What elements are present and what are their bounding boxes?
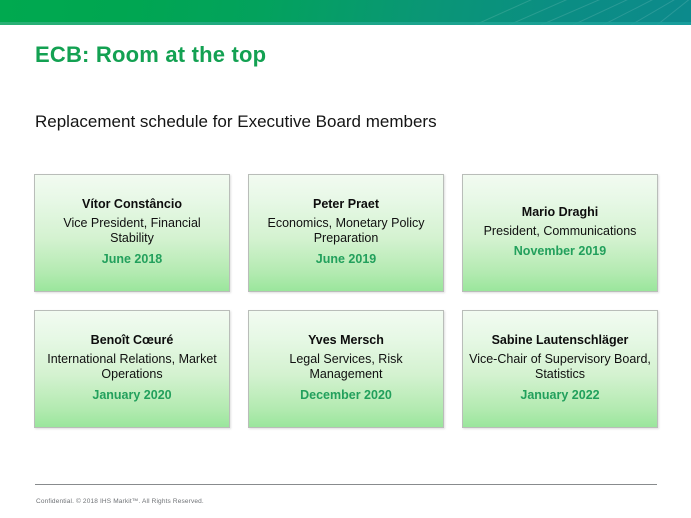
member-name: Sabine Lautenschläger xyxy=(492,333,629,349)
member-date: January 2022 xyxy=(520,388,599,403)
member-role: International Relations, Market Operatio… xyxy=(41,352,223,383)
member-date: December 2020 xyxy=(300,388,392,403)
member-card: Vítor Constâncio Vice President, Financi… xyxy=(34,174,230,292)
member-role: Legal Services, Risk Management xyxy=(255,352,437,383)
member-date: June 2018 xyxy=(102,252,162,267)
member-role: Economics, Monetary Policy Preparation xyxy=(255,216,437,247)
member-date: November 2019 xyxy=(514,244,606,259)
member-role: Vice-Chair of Supervisory Board, Statist… xyxy=(469,352,651,383)
footer-copyright: Confidential. © 2018 IHS Markit™. All Ri… xyxy=(36,498,204,505)
member-card: Benoît Cœuré International Relations, Ma… xyxy=(34,310,230,428)
member-name: Vítor Constâncio xyxy=(82,197,182,213)
member-card: Peter Praet Economics, Monetary Policy P… xyxy=(248,174,444,292)
member-card: Mario Draghi President, Communications N… xyxy=(462,174,658,292)
member-card: Sabine Lautenschläger Vice-Chair of Supe… xyxy=(462,310,658,428)
member-name: Benoît Cœuré xyxy=(91,333,174,349)
member-date: June 2019 xyxy=(316,252,376,267)
member-name: Yves Mersch xyxy=(308,333,384,349)
header-underline xyxy=(0,22,691,25)
page-subtitle: Replacement schedule for Executive Board… xyxy=(35,112,437,132)
page-title: ECB: Room at the top xyxy=(35,42,266,68)
member-role: President, Communications xyxy=(484,224,637,240)
member-name: Peter Praet xyxy=(313,197,379,213)
member-date: January 2020 xyxy=(92,388,171,403)
member-name: Mario Draghi xyxy=(522,205,598,221)
footer-divider xyxy=(35,484,657,485)
member-card: Yves Mersch Legal Services, Risk Managem… xyxy=(248,310,444,428)
member-role: Vice President, Financial Stability xyxy=(41,216,223,247)
member-card-grid: Vítor Constâncio Vice President, Financi… xyxy=(34,174,659,428)
